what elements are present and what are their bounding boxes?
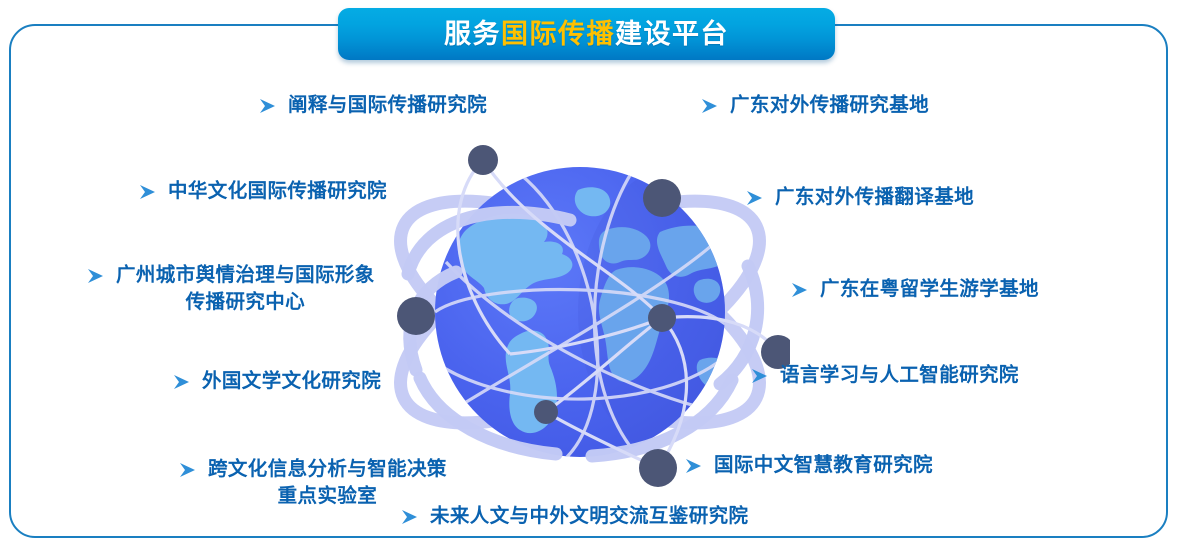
item-line1: 跨文化信息分析与智能决策 (208, 456, 447, 483)
item-line1: 国际中文智慧教育研究院 (714, 452, 933, 479)
item-label: 语言学习与人工智能研究院 (780, 362, 1019, 389)
globe-node (643, 179, 681, 217)
item-label: 广东对外传播翻译基地 (775, 184, 974, 211)
arrowhead-bullet-icon (178, 456, 200, 483)
item-line1: 中华文化国际传播研究院 (168, 178, 387, 205)
arrowhead-bullet-icon (750, 362, 772, 389)
item-line1: 广州城市舆情治理与国际形象 (116, 262, 375, 289)
arrowhead-bullet-icon (684, 452, 706, 479)
item-line1: 未来人文与中外文明交流互鉴研究院 (430, 503, 748, 530)
globe-node (468, 145, 498, 175)
page-title: 服务国际传播建设平台 (444, 21, 729, 48)
item-label: 阐释与国际传播研究院 (288, 92, 487, 119)
globe-node (397, 297, 435, 335)
item-10[interactable]: 国际中文智慧教育研究院 (684, 452, 933, 479)
item-label: 广州城市舆情治理与国际形象 传播研究中心 (116, 262, 375, 316)
item-4[interactable]: 外国文学文化研究院 (172, 368, 381, 395)
item-line1: 语言学习与人工智能研究院 (780, 362, 1019, 389)
item-9[interactable]: 语言学习与人工智能研究院 (750, 362, 1019, 389)
arrowhead-bullet-icon (258, 92, 280, 119)
arrowhead-bullet-icon (400, 503, 422, 530)
item-11[interactable]: 未来人文与中外文明交流互鉴研究院 (400, 503, 748, 530)
arrowhead-bullet-icon (172, 368, 194, 395)
item-line1: 外国文学文化研究院 (202, 368, 381, 395)
item-5[interactable]: 跨文化信息分析与智能决策 重点实验室 (178, 456, 447, 510)
item-label: 国际中文智慧教育研究院 (714, 452, 933, 479)
item-line2: 传播研究中心 (116, 289, 375, 316)
title-banner: 服务国际传播建设平台 (338, 8, 835, 60)
globe-node (648, 304, 676, 332)
globe-node (534, 400, 558, 424)
arrowhead-bullet-icon (138, 178, 160, 205)
item-label: 未来人文与中外文明交流互鉴研究院 (430, 503, 748, 530)
globe-node (639, 449, 677, 487)
item-line1: 阐释与国际传播研究院 (288, 92, 487, 119)
item-label: 广东在粤留学生游学基地 (820, 276, 1039, 303)
item-8[interactable]: 广东在粤留学生游学基地 (790, 276, 1039, 303)
item-7[interactable]: 广东对外传播翻译基地 (745, 184, 974, 211)
arrowhead-bullet-icon (790, 276, 812, 303)
item-6[interactable]: 广东对外传播研究基地 (700, 92, 929, 119)
item-label: 跨文化信息分析与智能决策 重点实验室 (208, 456, 447, 510)
slide-canvas: 服务国际传播建设平台 (0, 0, 1178, 554)
item-1[interactable]: 阐释与国际传播研究院 (258, 92, 487, 119)
arrowhead-bullet-icon (700, 92, 722, 119)
item-label: 中华文化国际传播研究院 (168, 178, 387, 205)
item-label: 广东对外传播研究基地 (730, 92, 929, 119)
arrowhead-bullet-icon (86, 262, 108, 289)
title-suffix: 建设平台 (615, 19, 729, 49)
title-highlight: 国际传播 (501, 19, 615, 49)
item-line1: 广东对外传播翻译基地 (775, 184, 974, 211)
arrowhead-bullet-icon (745, 184, 767, 211)
item-3[interactable]: 广州城市舆情治理与国际形象 传播研究中心 (86, 262, 375, 316)
item-label: 外国文学文化研究院 (202, 368, 381, 395)
item-line1: 广东在粤留学生游学基地 (820, 276, 1039, 303)
item-2[interactable]: 中华文化国际传播研究院 (138, 178, 387, 205)
title-prefix: 服务 (444, 19, 501, 49)
item-line1: 广东对外传播研究基地 (730, 92, 929, 119)
